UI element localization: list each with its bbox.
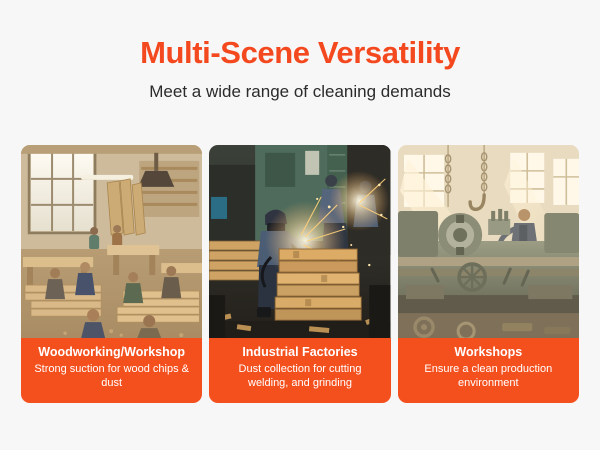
- industrial-factories-caption: Industrial Factories Dust collection for…: [209, 338, 390, 403]
- caption-description: Ensure a clean production environment: [404, 362, 573, 390]
- woodworking-workshop-caption: Woodworking/Workshop Strong suction for …: [21, 338, 202, 403]
- caption-title: Woodworking/Workshop: [27, 344, 196, 361]
- scene-card-workshops[interactable]: Workshops Ensure a clean production envi…: [398, 145, 579, 403]
- industrial-factories-photo: [209, 145, 390, 338]
- workshops-photo: [398, 145, 579, 338]
- header: Multi-Scene Versatility Meet a wide rang…: [0, 0, 600, 105]
- scene-card-industrial-factories[interactable]: Industrial Factories Dust collection for…: [209, 145, 390, 403]
- scene-card-woodworking-workshop[interactable]: Woodworking/Workshop Strong suction for …: [21, 145, 202, 403]
- caption-title: Industrial Factories: [215, 344, 384, 361]
- scene-cards-row: Woodworking/Workshop Strong suction for …: [21, 145, 579, 403]
- page-title: Multi-Scene Versatility: [0, 33, 600, 73]
- caption-description: Dust collection for cutting welding, and…: [215, 362, 384, 390]
- caption-description: Strong suction for wood chips & dust: [27, 362, 196, 390]
- woodworking-workshop-photo: [21, 145, 202, 338]
- workshops-caption: Workshops Ensure a clean production envi…: [398, 338, 579, 403]
- caption-title: Workshops: [404, 344, 573, 361]
- page-subtitle: Meet a wide range of cleaning demands: [0, 79, 600, 105]
